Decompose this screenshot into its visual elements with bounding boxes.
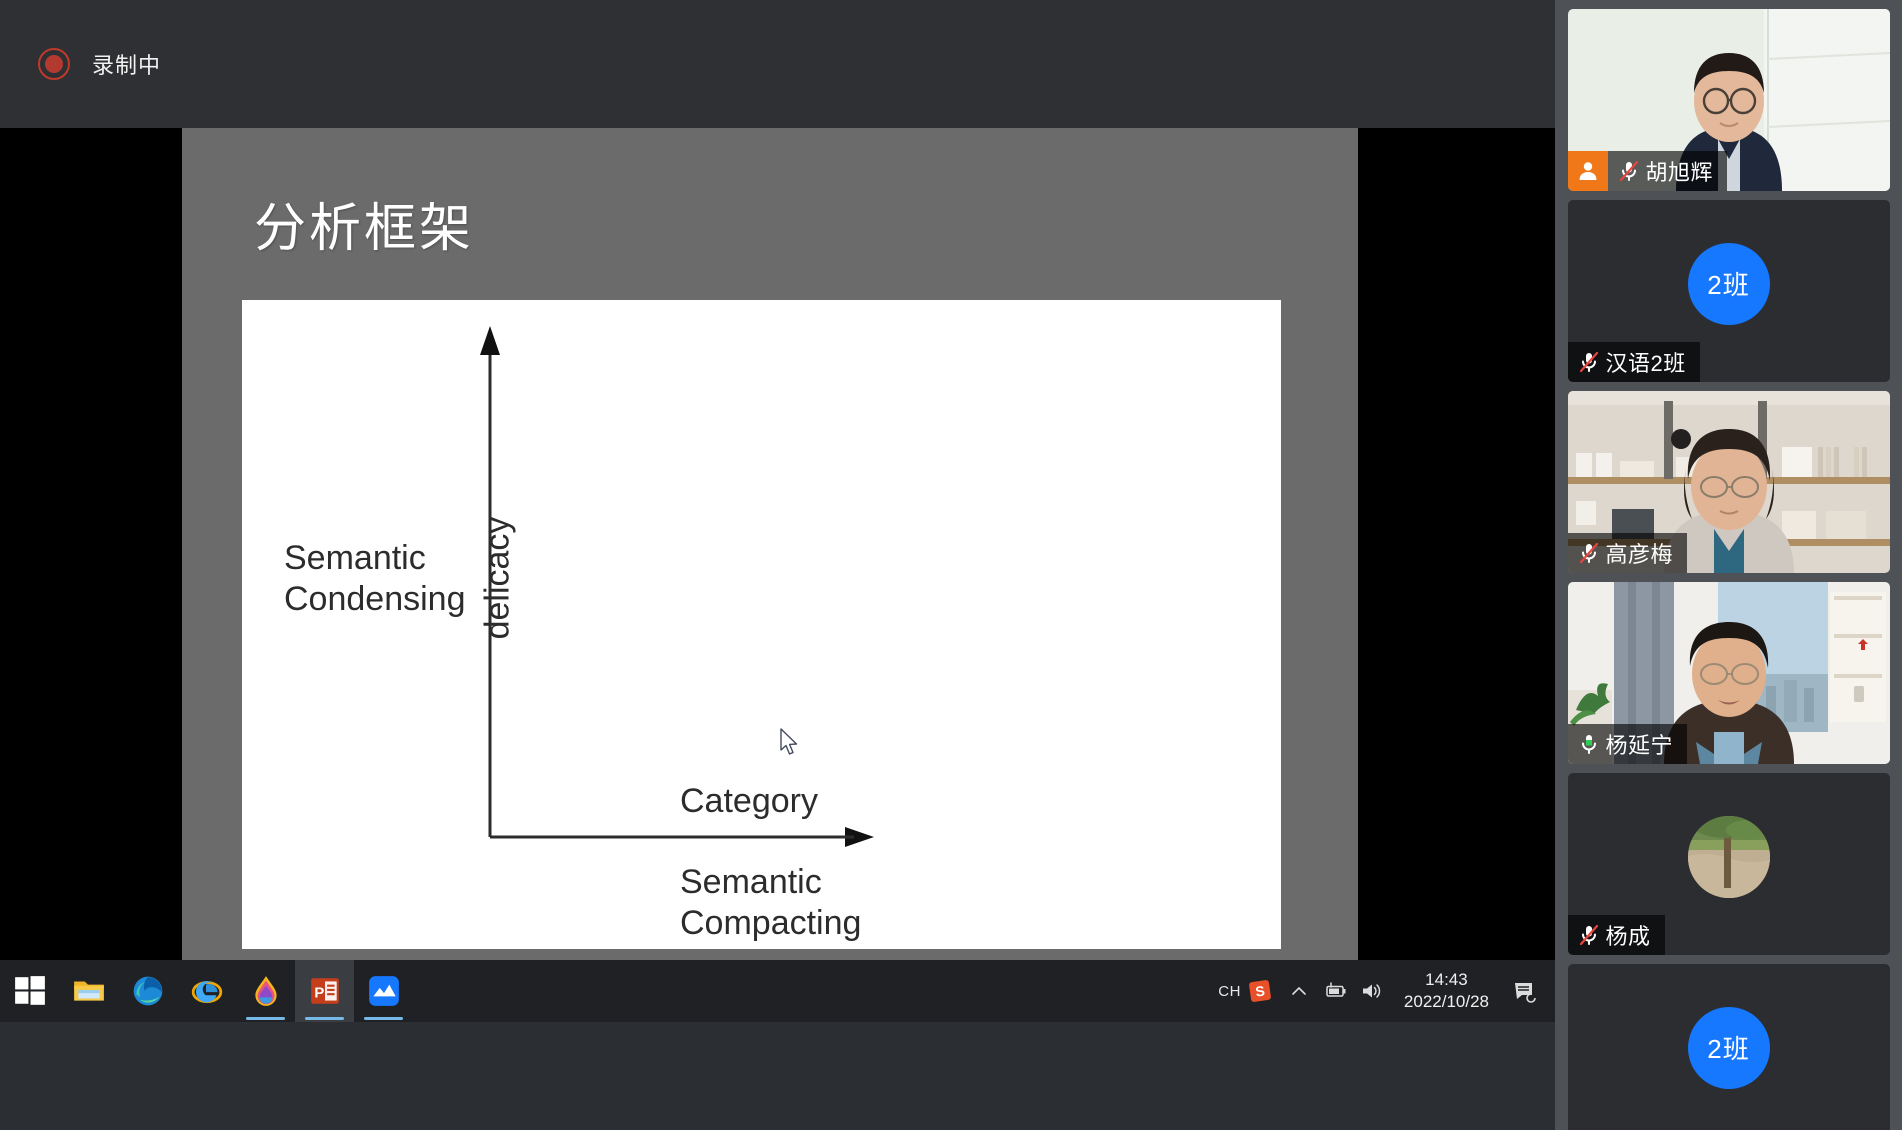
file-explorer-button[interactable] [59, 960, 118, 1022]
clock-time: 14:43 [1425, 969, 1468, 991]
battery-button[interactable] [1318, 960, 1352, 1022]
avatar [1688, 816, 1770, 898]
participant-rail[interactable]: 胡旭辉 2班 汉语2班 [1555, 0, 1902, 1130]
ime-indicator[interactable]: CH S [1210, 979, 1280, 1003]
start-button[interactable] [0, 960, 59, 1022]
left-label-line1: Semantic [284, 538, 465, 579]
participant-name-strip: 杨成 [1568, 915, 1665, 955]
chevron-up-icon [1290, 982, 1308, 1000]
folder-icon [72, 974, 106, 1008]
participant-name-strip: 高彦梅 [1568, 533, 1688, 573]
powerpoint-icon: P [308, 974, 342, 1008]
participant-tile[interactable]: 胡旭辉 [1568, 9, 1890, 191]
windows-taskbar: P CH S [0, 960, 1555, 1022]
mic-unmuted-icon [1572, 724, 1606, 764]
tencent-meeting-icon [367, 974, 401, 1008]
participant-name: 胡旭辉 [1646, 155, 1714, 187]
running-indicator [305, 1017, 344, 1020]
input-mode-label: CH [1218, 983, 1241, 1000]
tencent-meeting-button[interactable] [354, 960, 413, 1022]
participant-name: 高彦梅 [1606, 537, 1674, 569]
participant-name-strip: 汉语2班 [1568, 342, 1700, 382]
clock[interactable]: 14:43 2022/10/28 [1390, 960, 1503, 1022]
participant-name: 汉语2班 [1606, 346, 1686, 378]
tencent-meeting-window: 录制中 分析框架 delicacy [0, 0, 1902, 1130]
slide-title: 分析框架 [254, 186, 474, 261]
mic-muted-icon [1572, 915, 1606, 955]
running-indicator [364, 1017, 403, 1020]
framework-diagram: delicacy Semantic Condensing Category Se… [242, 300, 1281, 949]
participant-tile[interactable]: 杨成 [1568, 773, 1890, 955]
left-label-line2: Condensing [284, 579, 465, 620]
recording-bar: 录制中 [0, 0, 1555, 128]
svg-text:P: P [314, 985, 324, 1001]
powerpoint-button[interactable]: P [295, 960, 354, 1022]
avatar: 2班 [1688, 243, 1770, 325]
x-axis-label: Category [680, 782, 818, 820]
mic-muted-icon [1612, 151, 1646, 191]
notification-icon [1512, 979, 1538, 1003]
notification-center-button[interactable] [1505, 960, 1545, 1022]
sogou-ime-icon: S [1248, 979, 1272, 1003]
shared-screen-stage: 分析框架 delicacy Semantic [0, 128, 1555, 960]
participant-tile-partial[interactable]: 2班 [1568, 964, 1890, 1130]
windows-logo-icon [13, 974, 47, 1008]
record-dot-icon [38, 48, 70, 80]
avatar: 2班 [1688, 1007, 1770, 1089]
internet-explorer-icon [190, 974, 224, 1008]
participant-tile[interactable]: 2班 汉语2班 [1568, 200, 1890, 382]
battery-charging-icon [1322, 982, 1348, 1000]
participant-tile-active-speaker[interactable]: 杨延宁 [1568, 582, 1890, 764]
speaker-icon [1360, 981, 1382, 1001]
microsoft-edge-button[interactable] [118, 960, 177, 1022]
paint-3d-button[interactable] [236, 960, 295, 1022]
y-axis-label: delicacy [479, 517, 517, 640]
clock-date: 2022/10/28 [1404, 991, 1489, 1013]
show-hidden-icons-button[interactable] [1282, 960, 1316, 1022]
participant-name-strip: 杨延宁 [1568, 724, 1688, 764]
running-indicator [246, 1017, 285, 1020]
edge-icon [131, 974, 165, 1008]
presentation-slide: 分析框架 delicacy Semantic [182, 128, 1358, 960]
internet-explorer-button[interactable] [177, 960, 236, 1022]
participant-tile[interactable]: 高彦梅 [1568, 391, 1890, 573]
participant-name-strip: 胡旭辉 [1568, 151, 1728, 191]
host-badge-icon [1568, 151, 1608, 191]
mic-muted-icon [1572, 533, 1606, 573]
meeting-window-chrome [0, 1022, 1555, 1130]
color-droplet-icon [249, 974, 283, 1008]
mic-muted-icon [1572, 342, 1606, 382]
recording-label: 录制中 [92, 48, 161, 80]
volume-button[interactable] [1354, 960, 1388, 1022]
system-tray: CH S [1210, 960, 1555, 1022]
bottom-label-line1: Semantic [680, 862, 861, 903]
participant-name: 杨延宁 [1606, 728, 1674, 760]
recording-indicator: 录制中 [38, 48, 161, 80]
participant-name: 杨成 [1606, 919, 1651, 951]
bottom-label-line2: Compacting [680, 903, 861, 944]
taskbar-pinned-apps: P [0, 960, 413, 1022]
